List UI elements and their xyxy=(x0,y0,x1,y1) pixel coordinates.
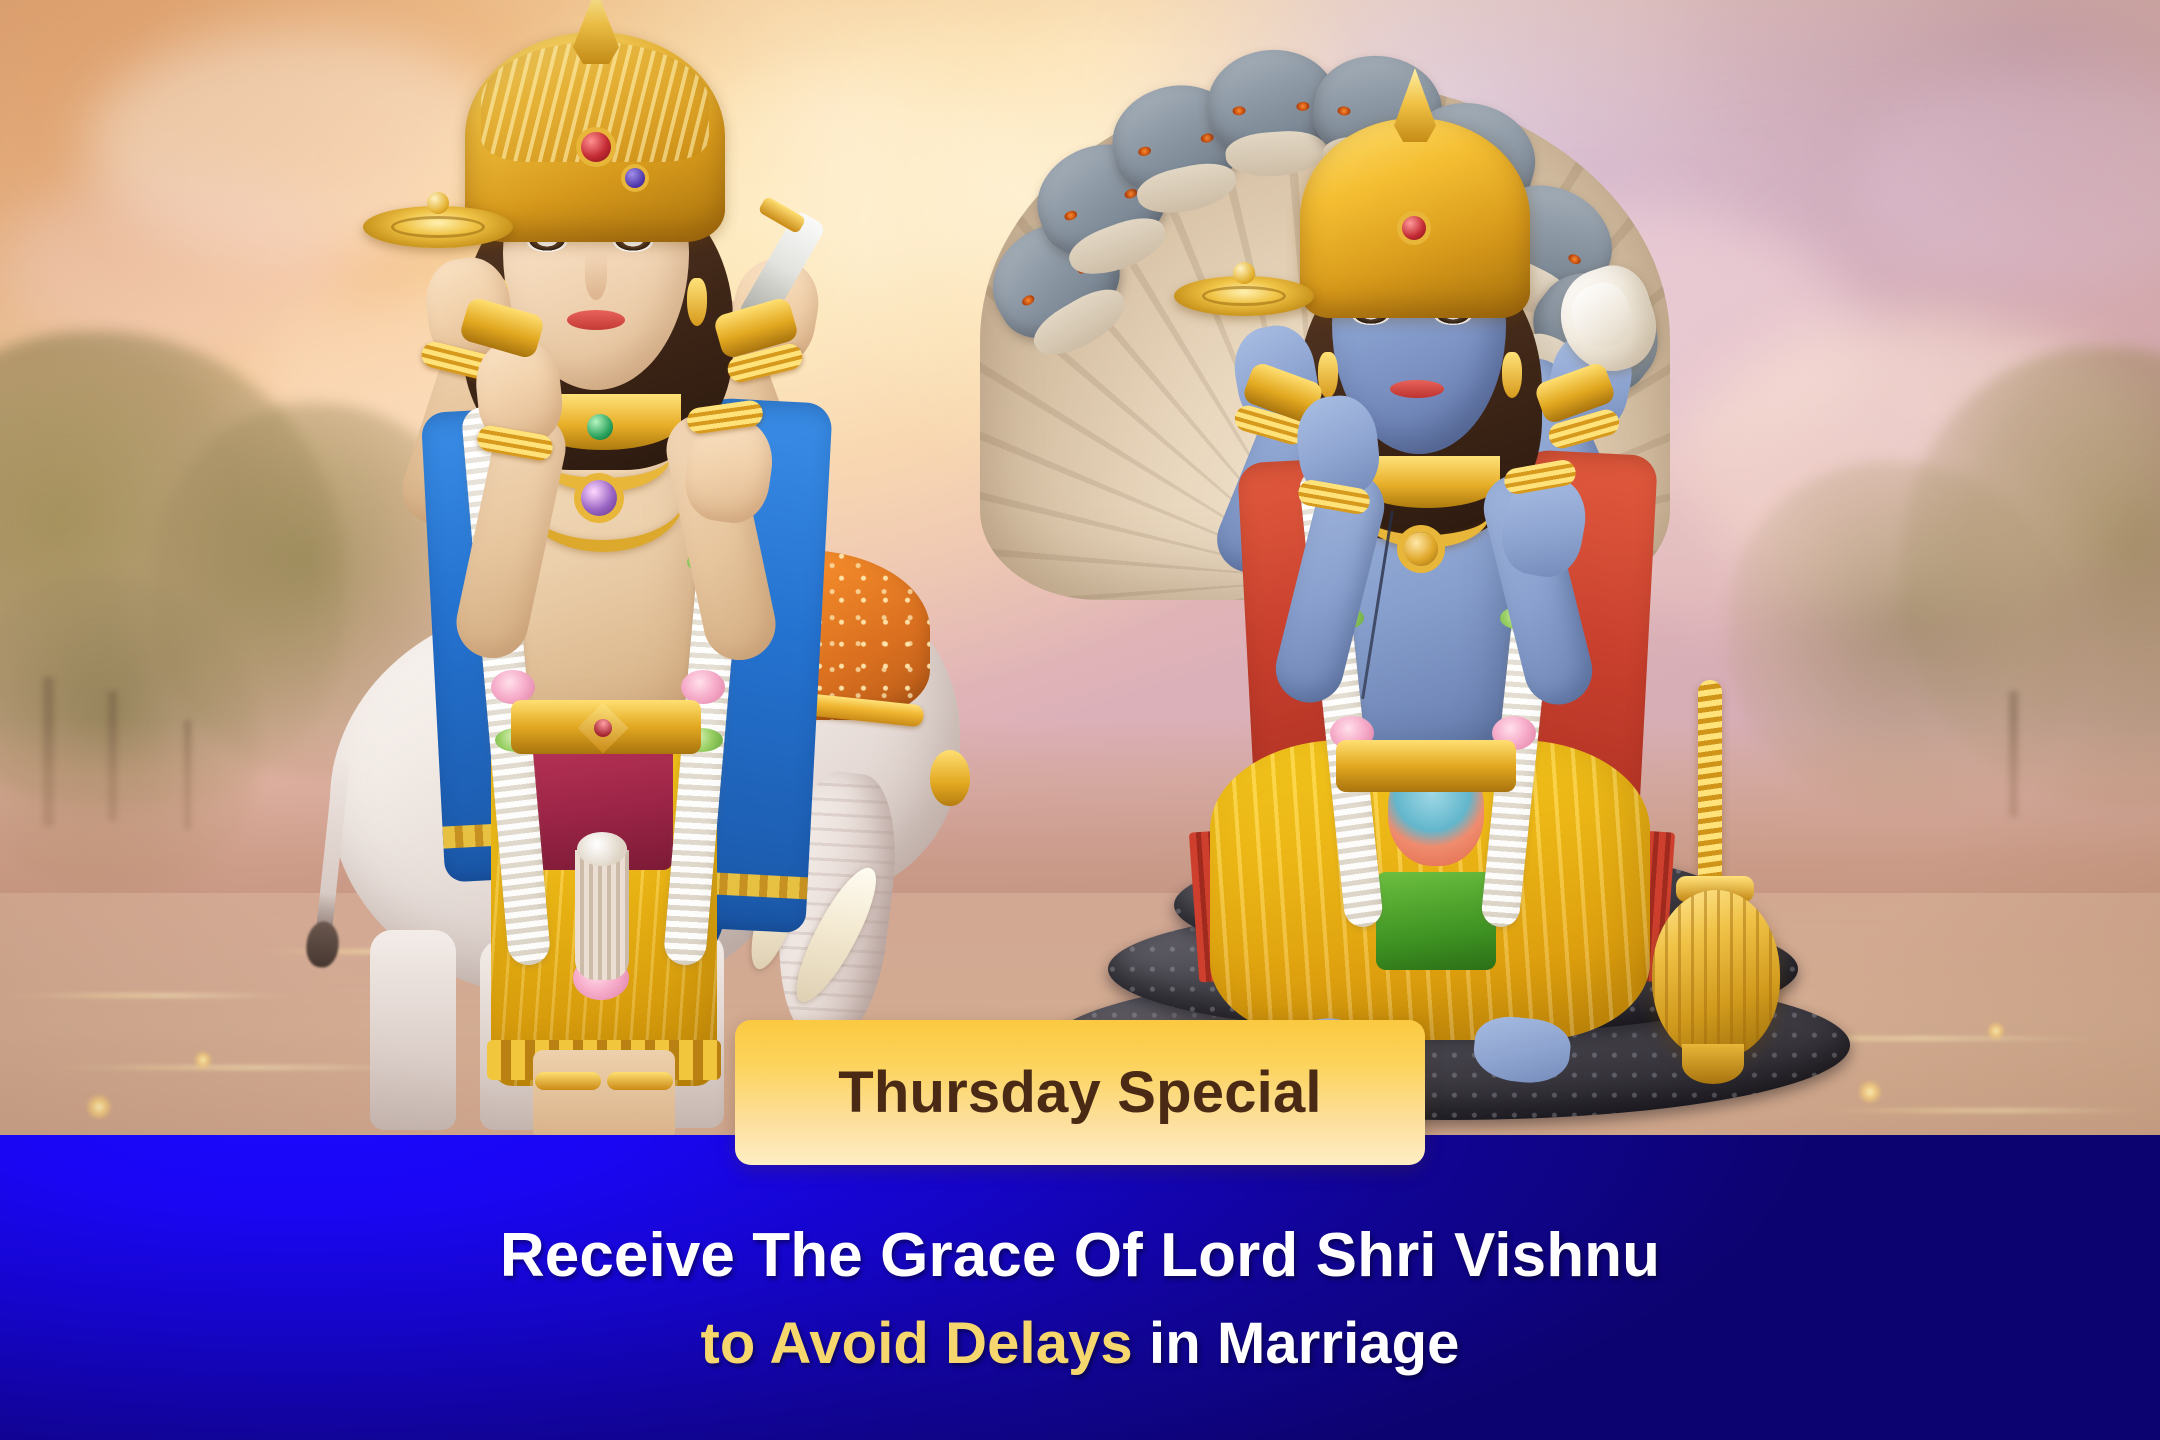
headline-gold-text: to Avoid Delays xyxy=(700,1311,1132,1376)
headline-container: Receive The Grace Of Lord Shri Vishnu to… xyxy=(0,1135,2160,1440)
devotional-promo-banner: Thursday Special Receive The Grace Of Lo… xyxy=(0,0,2160,1440)
headline-line-2: to Avoid Delays in Marriage xyxy=(700,1310,1459,1378)
thursday-special-badge[interactable]: Thursday Special xyxy=(735,1020,1425,1165)
headline-white-text: in Marriage xyxy=(1133,1311,1460,1376)
headline-line-1: Receive The Grace Of Lord Shri Vishnu xyxy=(500,1219,1660,1292)
badge-label: Thursday Special xyxy=(838,1059,1321,1126)
headline-band: Receive The Grace Of Lord Shri Vishnu to… xyxy=(0,1135,2160,1440)
